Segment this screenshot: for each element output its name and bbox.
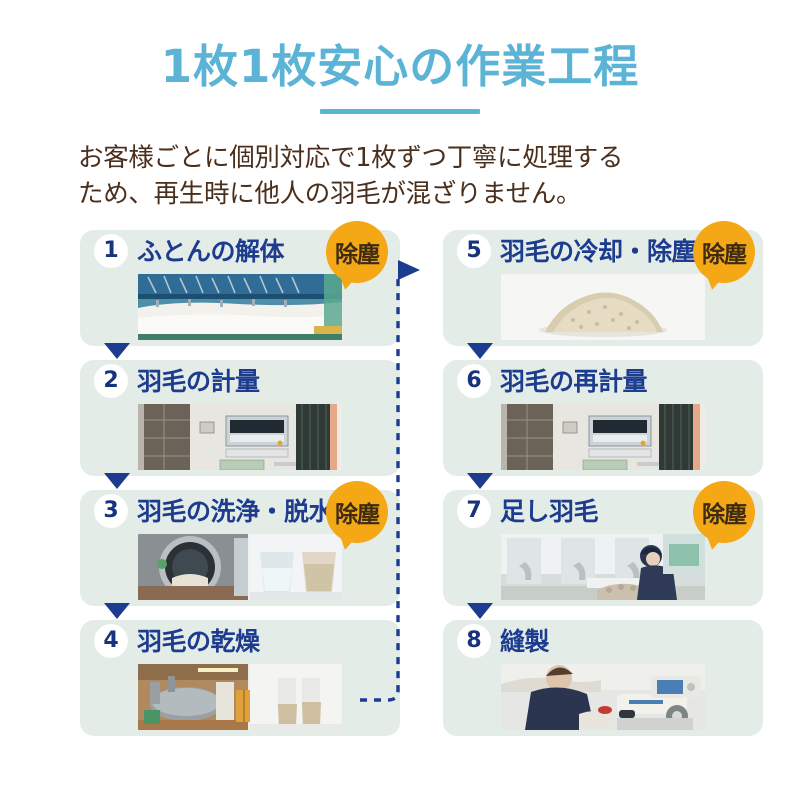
dust-removal-badge-5: 除塵: [693, 221, 755, 283]
step-card-3[interactable]: 3 羽毛の洗浄・脱水 除塵: [80, 490, 400, 606]
step-photo-2: [138, 404, 342, 470]
step-photo-3: [138, 534, 342, 600]
step-card-5[interactable]: 5 羽毛の冷却・除塵 除塵: [443, 230, 763, 346]
step-arrow-3: [104, 603, 130, 619]
step-label-5: 羽毛の冷却・除塵: [500, 232, 696, 268]
process-steps: 1 ふとんの解体 除塵: [0, 230, 800, 770]
step-number-6: 6: [457, 364, 491, 398]
step-arrow-7: [467, 603, 493, 619]
step-arrow-2: [104, 473, 130, 489]
step-card-8[interactable]: 8 縫製: [443, 620, 763, 736]
step-card-6[interactable]: 6 羽毛の再計量: [443, 360, 763, 476]
step-photo-5: [501, 274, 705, 340]
subtitle: お客様ごとに個別対応で1枚ずつ丁寧に処理する ため、再生時に他人の羽毛が混ざりま…: [78, 140, 728, 212]
dust-removal-badge-7: 除塵: [693, 481, 755, 543]
step-number-1: 1: [94, 234, 128, 268]
step-arrow-1: [104, 343, 130, 359]
page-title: 1枚1枚安心の作業工程: [0, 42, 800, 92]
step-photo-1: [138, 274, 342, 340]
step-photo-7: [501, 534, 705, 600]
step-label-4: 羽毛の乾燥: [137, 622, 260, 658]
step-label-8: 縫製: [500, 622, 549, 658]
step-card-1[interactable]: 1 ふとんの解体 除塵: [80, 230, 400, 346]
step-label-1: ふとんの解体: [137, 232, 284, 268]
step-number-3: 3: [94, 494, 128, 528]
step-card-2[interactable]: 2 羽毛の計量: [80, 360, 400, 476]
step-number-5: 5: [457, 234, 491, 268]
step-header-8: 8 縫製: [443, 620, 763, 660]
step-header-2: 2 羽毛の計量: [80, 360, 400, 400]
step-photo-4: [138, 664, 342, 730]
step-number-7: 7: [457, 494, 491, 528]
step-label-3: 羽毛の洗浄・脱水: [137, 492, 333, 528]
subtitle-line-1: お客様ごとに個別対応で1枚ずつ丁寧に処理する: [78, 140, 728, 176]
step-photo-6: [501, 404, 705, 470]
step-number-4: 4: [94, 624, 128, 658]
step-header-4: 4 羽毛の乾燥: [80, 620, 400, 660]
step-arrow-5: [467, 343, 493, 359]
subtitle-line-2: ため、再生時に他人の羽毛が混ざりません。: [78, 176, 728, 212]
step-number-2: 2: [94, 364, 128, 398]
step-number-8: 8: [457, 624, 491, 658]
steps-column-right: 5 羽毛の冷却・除塵 除塵: [443, 230, 763, 750]
step-arrow-6: [467, 473, 493, 489]
step-label-7: 足し羽毛: [500, 492, 598, 528]
dust-removal-badge-1: 除塵: [326, 221, 388, 283]
title-underline: [320, 109, 480, 114]
steps-column-left: 1 ふとんの解体 除塵: [80, 230, 400, 750]
step-card-4[interactable]: 4 羽毛の乾燥: [80, 620, 400, 736]
dust-removal-badge-3: 除塵: [326, 481, 388, 543]
step-photo-8: [501, 664, 705, 730]
step-label-2: 羽毛の計量: [137, 362, 260, 398]
header: 1枚1枚安心の作業工程: [0, 0, 800, 114]
step-label-6: 羽毛の再計量: [500, 362, 647, 398]
step-header-6: 6 羽毛の再計量: [443, 360, 763, 400]
step-card-7[interactable]: 7 足し羽毛 除塵: [443, 490, 763, 606]
